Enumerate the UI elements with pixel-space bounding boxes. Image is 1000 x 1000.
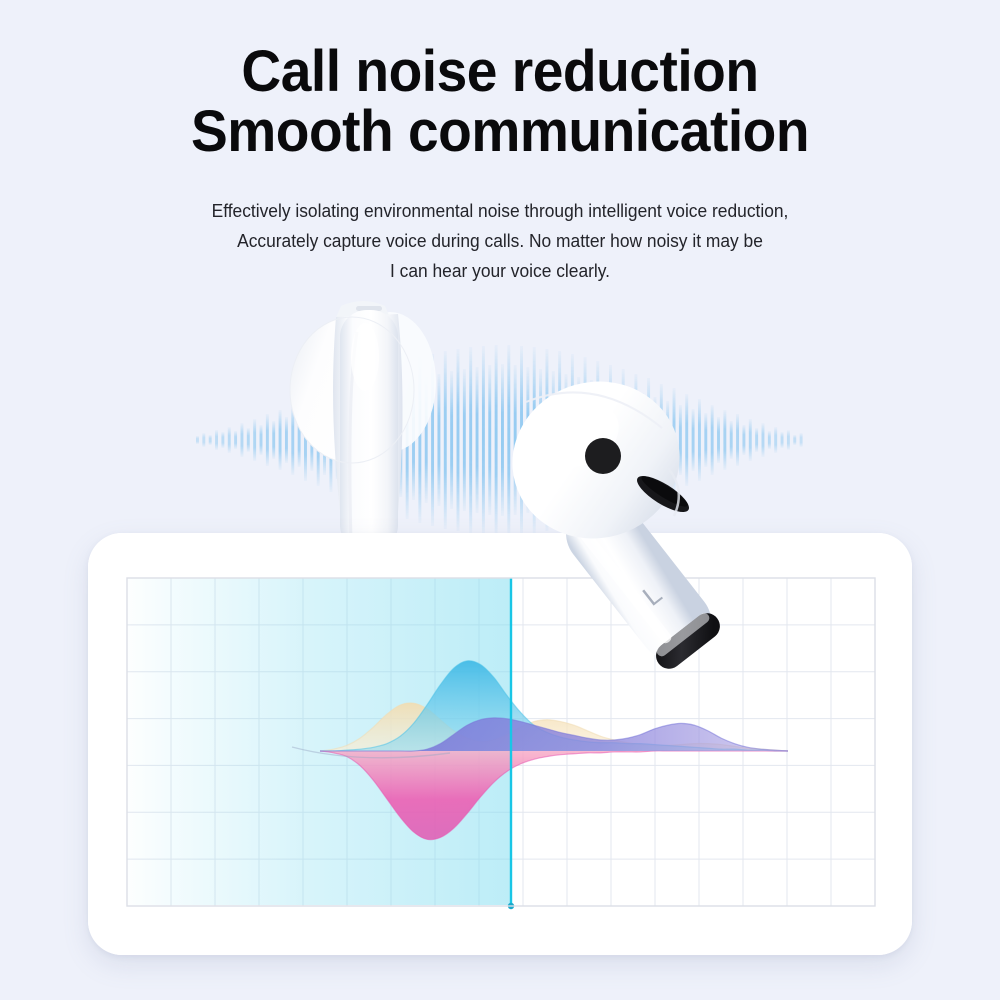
spectrum-bar xyxy=(253,419,256,461)
spectrum-bar xyxy=(234,431,237,449)
microphone-dot xyxy=(585,438,621,474)
body-copy-line-2: Accurately capture voice during calls. N… xyxy=(30,226,970,256)
spectrum-bar xyxy=(260,425,263,455)
headline-line-1: Call noise reduction xyxy=(241,39,758,104)
spectrum-bar xyxy=(285,417,288,463)
body-copy-line-1: Effectively isolating environmental nois… xyxy=(30,196,970,226)
headline-line-2: Smooth communication xyxy=(25,102,975,162)
spectrum-bar xyxy=(196,436,199,444)
spectrum-bar xyxy=(221,432,224,448)
marketing-banner: Call noise reduction Smooth communicatio… xyxy=(0,0,1000,1000)
spectrum-bar xyxy=(762,423,765,457)
spectrum-bar xyxy=(768,431,771,449)
spectrum-bar xyxy=(215,430,218,450)
spectrum-bar xyxy=(272,421,275,459)
page-title: Call noise reduction Smooth communicatio… xyxy=(25,42,975,162)
spectrum-bar xyxy=(209,435,212,445)
spectrum-bar xyxy=(279,410,282,470)
spectrum-bar xyxy=(781,432,784,448)
spectrum-bar xyxy=(800,433,803,447)
right-earbud: L xyxy=(430,372,760,682)
spectrum-bar xyxy=(247,428,250,452)
spectrum-bar xyxy=(793,435,796,445)
spectrum-bar xyxy=(787,430,790,450)
earbud-head xyxy=(494,372,698,558)
spectrum-bar xyxy=(240,423,243,457)
spectrum-bar xyxy=(228,427,231,453)
spectrum-bar xyxy=(202,433,205,447)
left-earbud xyxy=(290,301,436,552)
spectrum-bar xyxy=(266,414,269,466)
spectrum-bar xyxy=(774,427,777,453)
